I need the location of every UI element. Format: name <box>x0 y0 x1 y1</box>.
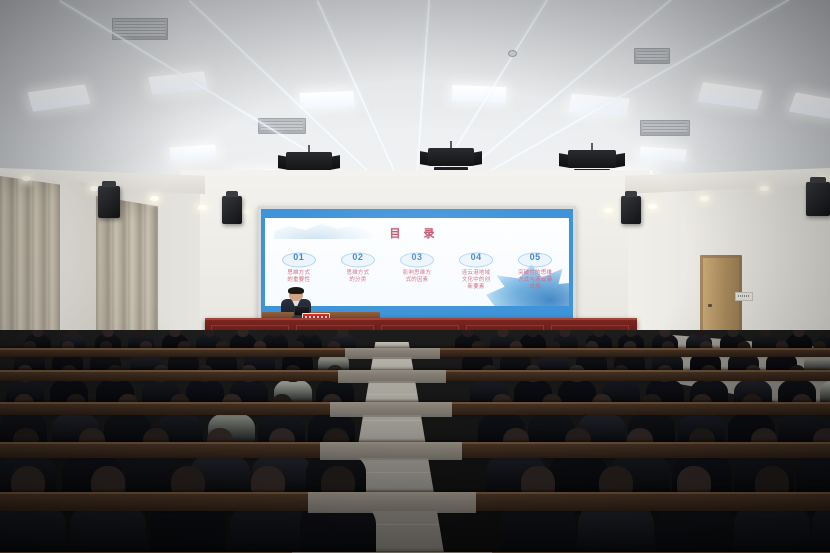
wall-plaque-sign <box>735 292 753 301</box>
aisle-gap-0 <box>345 348 440 359</box>
speaker-body <box>568 150 616 168</box>
person-head <box>594 330 605 337</box>
person-head <box>204 330 215 337</box>
person-head <box>68 330 79 337</box>
person-head <box>660 330 671 337</box>
recessed-downlight-6 <box>648 204 657 209</box>
recessed-downlight-7 <box>700 196 709 201</box>
person-head <box>528 330 539 337</box>
toc-label: 连云港地域文化中的创新要素 <box>448 270 503 291</box>
slide-toc-item-05: 05突破性的思维方式与连云港发展 <box>507 247 562 291</box>
toc-number-badge: 02 <box>330 247 385 267</box>
slide-title: 目 录 <box>265 225 569 241</box>
slide-toc-list: 01思维方式的重要性02思维方式的分类03影响思维方式的因素04连云港地域文化中… <box>271 247 563 291</box>
presenter-hair <box>288 287 304 294</box>
toc-number-badge: 04 <box>448 247 503 267</box>
person-head <box>103 330 114 337</box>
person-head <box>760 330 771 337</box>
speaker-body <box>428 148 474 166</box>
recessed-downlight-2 <box>150 196 159 201</box>
person-head <box>463 330 474 337</box>
person-head <box>498 330 509 337</box>
person-head <box>694 330 705 337</box>
person-head <box>626 330 637 337</box>
speaker-enclosure <box>806 182 830 216</box>
door-handle[interactable] <box>708 304 712 307</box>
slide-toc-item-01: 01思维方式的重要性 <box>271 247 326 291</box>
toc-number: 01 <box>293 252 304 262</box>
person-head <box>304 330 315 337</box>
person-head <box>728 330 739 337</box>
person-head <box>170 330 181 337</box>
person-head <box>824 330 830 337</box>
ceiling-air-vent-2 <box>640 120 690 136</box>
ceiling-air-vent-3 <box>634 48 670 64</box>
speaker-bracket <box>226 191 239 197</box>
toc-number: 03 <box>411 252 422 262</box>
person-head <box>270 330 281 337</box>
ceiling-panel-light-3 <box>451 85 506 103</box>
audience-area <box>0 330 830 553</box>
speaker-enclosure <box>98 186 120 218</box>
wall-mounted-speaker-3 <box>806 182 830 216</box>
smoke-detector-icon <box>508 50 517 57</box>
person-head <box>136 330 147 337</box>
wall-mounted-speaker-0 <box>98 186 120 218</box>
recessed-downlight-3 <box>198 205 207 210</box>
toc-number: 05 <box>530 252 541 262</box>
toc-number-badge: 01 <box>271 247 326 267</box>
toc-label: 思维方式的分类 <box>330 270 385 284</box>
toc-number-badge: 05 <box>507 247 562 267</box>
speaker-bracket <box>810 177 825 183</box>
recessed-downlight-5 <box>604 208 613 213</box>
recessed-downlight-8 <box>760 186 769 191</box>
speaker-enclosure <box>621 196 641 224</box>
toc-number-badge: 03 <box>389 247 444 267</box>
aisle-gap-1 <box>338 370 446 383</box>
speaker-body <box>286 152 332 170</box>
speaker-bracket <box>625 191 638 197</box>
slide-toc-item-02: 02思维方式的分类 <box>330 247 385 291</box>
ceiling-panel-light-2 <box>299 91 354 109</box>
recessed-downlight-0 <box>22 176 31 181</box>
toc-label: 突破性的思维方式与连云港发展 <box>507 270 562 291</box>
person-head <box>33 330 44 337</box>
slide-toc-item-04: 04连云港地域文化中的创新要素 <box>448 247 503 291</box>
aisle-gap-4 <box>308 492 476 513</box>
speaker-enclosure <box>222 196 242 224</box>
conference-hall-photo: 目 录 01思维方式的重要性02思维方式的分类03影响思维方式的因素04连云港地… <box>0 0 830 553</box>
slide-toc-item-03: 03影响思维方式的因素 <box>389 247 444 291</box>
toc-label: 影响思维方式的因素 <box>389 270 444 284</box>
toc-number: 02 <box>352 252 363 262</box>
aisle-gap-3 <box>320 442 462 460</box>
person-head <box>338 330 349 337</box>
speaker-bracket <box>102 181 116 187</box>
person-head <box>238 330 249 337</box>
wall-mounted-speaker-2 <box>621 196 641 224</box>
aisle-gap-2 <box>330 402 452 417</box>
person-head <box>794 330 805 337</box>
toc-label: 思维方式的重要性 <box>271 270 326 284</box>
person-head <box>560 330 571 337</box>
toc-number: 04 <box>471 252 482 262</box>
wall-mounted-speaker-1 <box>222 196 242 224</box>
